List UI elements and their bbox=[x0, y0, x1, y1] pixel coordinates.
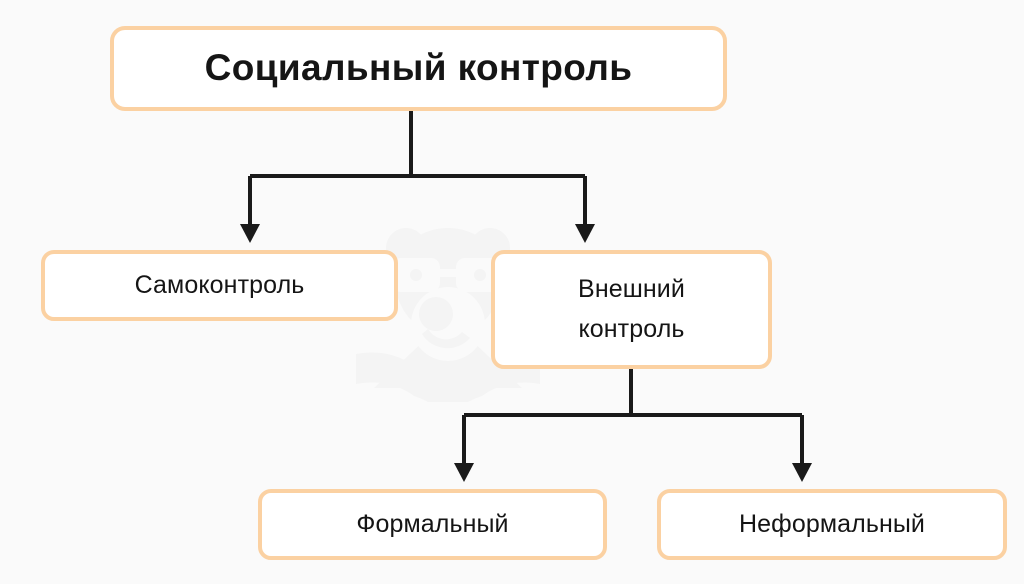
node-social-control-root: Социальный контроль bbox=[110, 26, 727, 111]
node-label: Внешний контроль bbox=[578, 270, 685, 349]
node-label: Формальный bbox=[356, 508, 508, 541]
arrowhead-icon bbox=[792, 463, 812, 482]
node-self-control: Самоконтроль bbox=[41, 250, 398, 321]
node-external-control: Внешний контроль bbox=[491, 250, 772, 369]
node-label: Неформальный bbox=[739, 508, 925, 541]
node-label-line-1: Внешний bbox=[578, 275, 685, 303]
node-label: Социальный контроль bbox=[205, 44, 633, 93]
node-label: Самоконтроль bbox=[135, 269, 305, 302]
arrowhead-icon bbox=[240, 224, 260, 243]
node-informal-control: Неформальный bbox=[657, 489, 1007, 560]
arrowhead-icon bbox=[575, 224, 595, 243]
arrowhead-icon bbox=[454, 463, 474, 482]
node-label-line-2: контроль bbox=[578, 315, 684, 343]
diagram-canvas: Социальный контроль Самоконтроль Внешний… bbox=[0, 0, 1024, 584]
node-formal-control: Формальный bbox=[258, 489, 607, 560]
